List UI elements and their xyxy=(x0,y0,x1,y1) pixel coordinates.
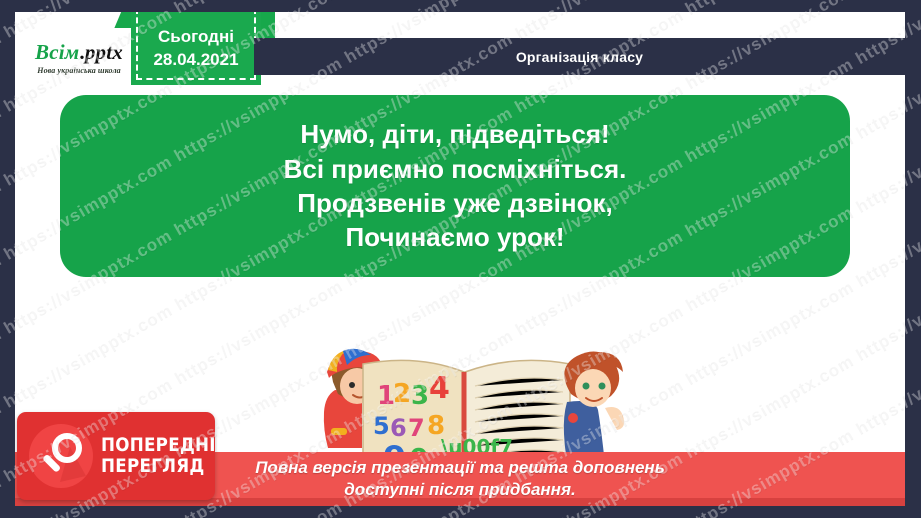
brand-logo-prefix: Всім xyxy=(35,40,79,64)
svg-text:6: 6 xyxy=(390,414,407,442)
today-date-badge: Сьогодні 28.04.2021 xyxy=(131,12,261,85)
date-badge-label: Сьогодні xyxy=(158,26,234,49)
brand-logo-suffix: pptx xyxy=(85,40,123,64)
svg-text:4: 4 xyxy=(429,371,450,406)
slide-title: Організація класу xyxy=(516,49,643,65)
poem-line-3: Продзвенів уже дзвінок, xyxy=(297,186,612,220)
preview-badge-text: ПОПЕРЕДНІЙ ПЕРЕГЛЯД xyxy=(101,435,248,476)
brand-logo-tagline: Нова українська школа xyxy=(37,66,121,75)
presentation-slide: Всім.pptx Нова українська школа Сьогодні… xyxy=(0,0,921,518)
purchase-notice-line-1: Повна версія презентації та решта доповн… xyxy=(255,457,665,479)
magnifier-icon xyxy=(29,424,93,488)
preview-badge-line-2: ПЕРЕГЛЯД xyxy=(101,456,230,477)
slide-header-bar: Організація класу xyxy=(254,38,905,75)
svg-text:5: 5 xyxy=(373,412,390,440)
svg-text:3: 3 xyxy=(411,381,429,411)
svg-text:2: 2 xyxy=(393,379,411,409)
poem-panel: Нумо, діти, підведіться! Всі приємно пос… xyxy=(60,95,850,277)
poem-line-4: Починаємо урок! xyxy=(345,220,564,254)
poem-line-2: Всі приємно посміхніться. xyxy=(284,152,627,186)
svg-text:7: 7 xyxy=(408,414,425,442)
date-badge-value: 28.04.2021 xyxy=(153,49,238,72)
preview-badge[interactable]: ПОПЕРЕДНІЙ ПЕРЕГЛЯД xyxy=(17,412,215,500)
poem-line-1: Нумо, діти, підведіться! xyxy=(300,117,609,151)
brand-logo: Всім.pptx Нова українська школа xyxy=(15,28,143,86)
brand-logo-title: Всім.pptx xyxy=(35,40,123,65)
slide-canvas: Всім.pptx Нова українська школа Сьогодні… xyxy=(15,12,905,506)
preview-badge-line-1: ПОПЕРЕДНІЙ xyxy=(101,435,230,456)
